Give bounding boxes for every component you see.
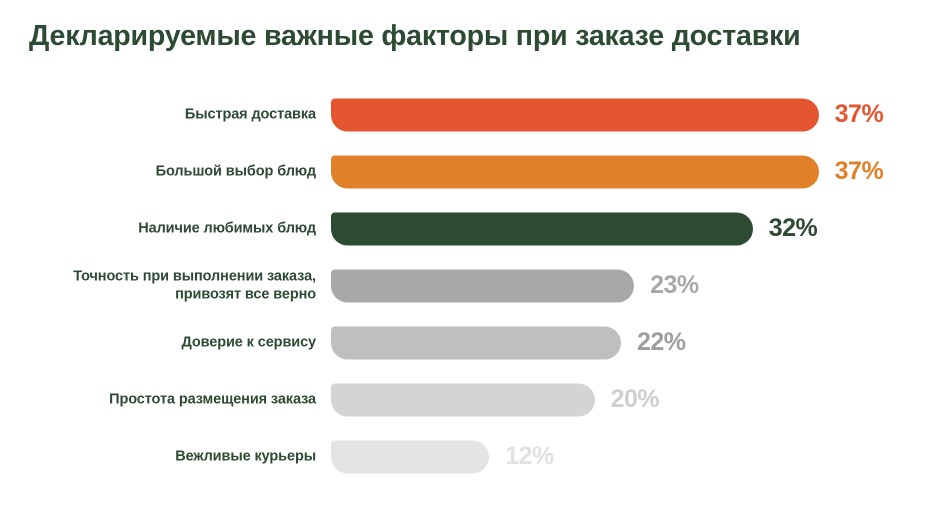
bar-track: 22% [331,326,891,359]
category-label: Вежливые курьеры [175,447,316,466]
bar-fill [331,440,489,473]
bar-row: Большой выбор блюд 37% [0,143,940,200]
bar-value-label: 20% [611,385,660,414]
bar-fill [331,269,634,302]
bar-track: 12% [331,440,891,473]
bar-row: Вежливые курьеры 12% [0,428,940,485]
bar-row: Точность при выполнении заказа, привозят… [0,257,940,314]
chart-canvas: Декларируемые важные факторы при заказе … [0,0,940,529]
bar-track: 20% [331,383,891,416]
category-label: Большой выбор блюд [156,162,316,181]
category-label: Доверие к сервису [181,333,316,352]
bar-value-label: 12% [505,442,554,471]
category-label: Наличие любимых блюд [138,219,316,238]
bar-fill [331,383,595,416]
bar-value-label: 32% [769,214,818,243]
bar-track: 23% [331,269,891,302]
bar-row: Простота размещения заказа 20% [0,371,940,428]
bar-row: Быстрая доставка 37% [0,86,940,143]
category-label: Быстрая доставка [185,105,316,124]
category-label: Простота размещения заказа [109,390,316,409]
bar-row: Наличие любимых блюд 32% [0,200,940,257]
bar-track: 37% [331,98,891,131]
bar-value-label: 23% [650,271,699,300]
bar-track: 37% [331,155,891,188]
bar-fill [331,326,621,359]
bar-fill [331,155,819,188]
bar-track: 32% [331,212,891,245]
bar-row: Доверие к сервису 22% [0,314,940,371]
bar-chart-rows: Быстрая доставка 37% Большой выбор блюд … [0,86,940,485]
bar-fill [331,98,819,131]
bar-value-label: 37% [835,100,884,129]
page-title: Декларируемые важные факторы при заказе … [29,20,801,53]
bar-value-label: 37% [835,157,884,186]
category-label: Точность при выполнении заказа, привозят… [73,267,316,304]
bar-fill [331,212,753,245]
bar-value-label: 22% [637,328,686,357]
